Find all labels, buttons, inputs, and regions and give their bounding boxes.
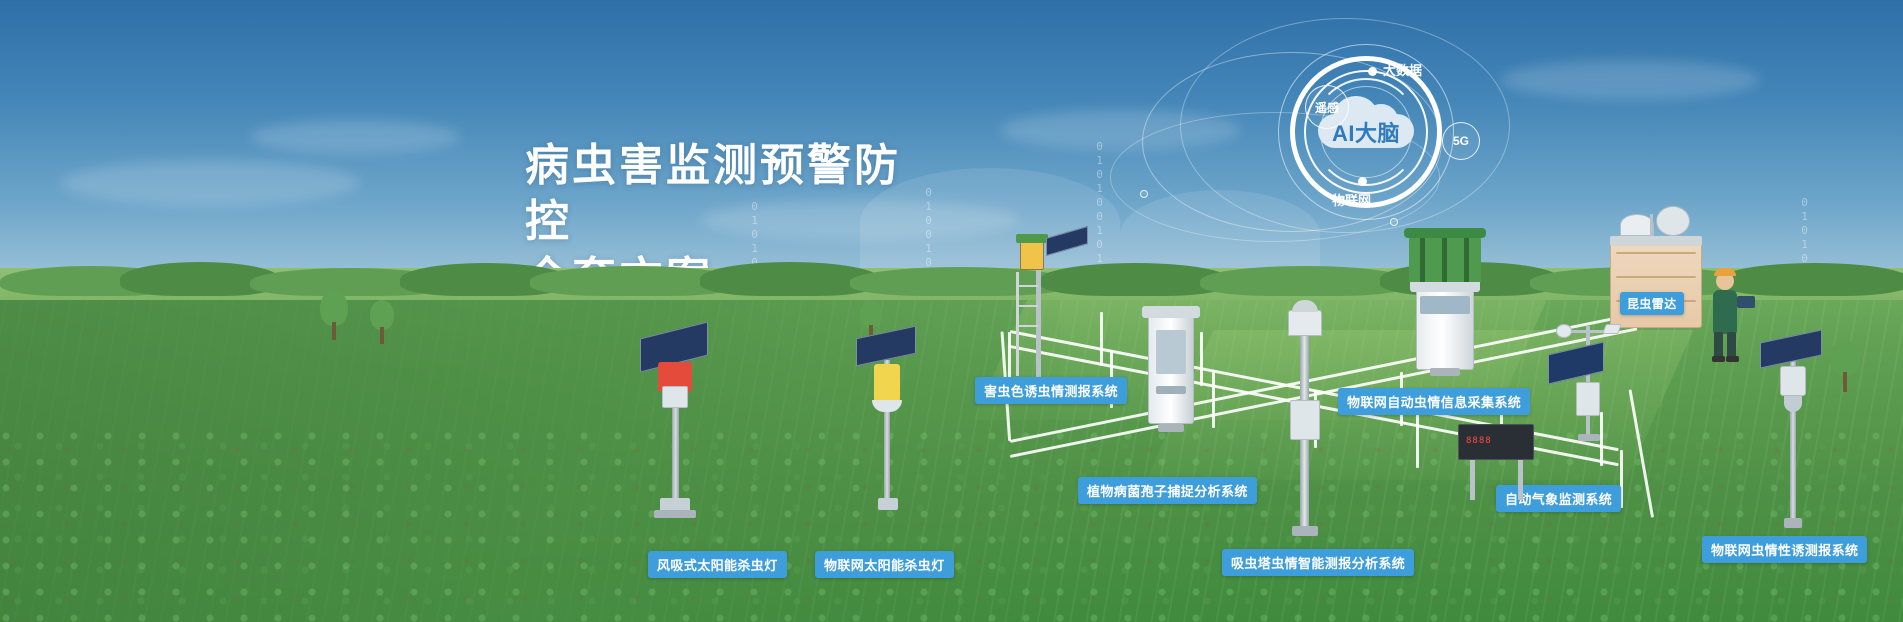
illustration-banner: 010010101100 01010010 0101001011 0101001… [0, 0, 1903, 622]
orbit-endpoint-dot-2 [1390, 218, 1398, 226]
node-big-data-dot[interactable] [1368, 67, 1377, 76]
node-iot-label: 物联网 [1332, 190, 1371, 209]
label-iot-pheromone-system[interactable]: 物联网虫情性诱测报系统 [1702, 536, 1867, 563]
led-readout: 8888 [1466, 436, 1492, 446]
label-suction-tower-analyzer[interactable]: 吸虫塔虫情智能测报分析系统 [1222, 549, 1414, 576]
ai-brain-cluster: AI大脑 遥感 大数据 5G 物联网 [1150, 22, 1550, 252]
tree [370, 300, 394, 344]
tree [320, 290, 348, 340]
tree [1830, 340, 1860, 392]
cloud-decoration [250, 120, 460, 154]
node-5g[interactable]: 5G [1442, 122, 1480, 160]
crop-texture [0, 430, 1903, 622]
label-color-trap-system[interactable]: 害虫色诱虫情测报系统 [975, 377, 1127, 404]
label-iot-solar-lamp[interactable]: 物联网太阳能杀虫灯 [815, 551, 954, 578]
hero-title-line-1: 病虫害监测预警防控 [525, 138, 945, 251]
orbit-endpoint-dot [1140, 190, 1148, 198]
label-spore-capture-analyzer[interactable]: 植物病菌孢子捕捉分析系统 [1078, 477, 1257, 504]
cloud-decoration [60, 160, 360, 206]
node-iot-dot[interactable] [1358, 177, 1367, 186]
label-insect-radar[interactable]: 昆虫雷达 [1620, 292, 1684, 315]
label-wind-suction-lamp[interactable]: 风吸式太阳能杀虫灯 [648, 551, 787, 578]
ai-brain-label: AI大脑 [1332, 116, 1400, 148]
label-iot-auto-collector[interactable]: 物联网自动虫情信息采集系统 [1338, 388, 1530, 415]
node-5g-label: 5G [1453, 134, 1469, 148]
node-remote-sensing-label: 遥感 [1315, 99, 1339, 116]
node-big-data-label: 大数据 [1383, 60, 1422, 79]
label-weather-monitor[interactable]: 自动气象监测系统 [1496, 485, 1621, 512]
